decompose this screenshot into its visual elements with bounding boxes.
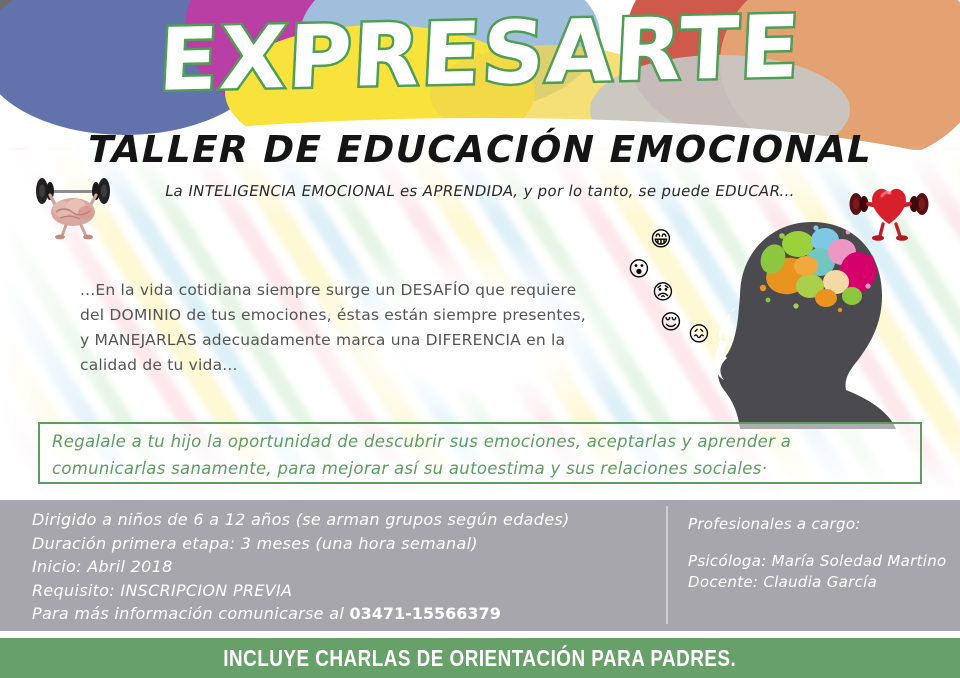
staff-teacher: Docente: Claudia García bbox=[688, 572, 948, 593]
bottom-banner-text: INCLUYE CHARLAS DE ORIENTACIÓN PARA PADR… bbox=[224, 645, 737, 672]
surprised-emoji: 😮 bbox=[628, 259, 650, 280]
grinning-emoji: 😁 bbox=[650, 229, 672, 250]
phone-number[interactable]: 03471-15566379 bbox=[349, 604, 500, 623]
poster-tagline: La INTELIGENCIA EMOCIONAL es APRENDIDA, … bbox=[0, 182, 960, 200]
intro-paragraph: ...En la vida cotidiana siempre surge un… bbox=[80, 278, 600, 378]
worried-emoji: 😟 bbox=[652, 282, 674, 303]
staff-block: Profesionales a cargo: Psicóloga: María … bbox=[688, 514, 948, 593]
detail-line-duration: Duración primera etapa: 3 meses (una hor… bbox=[32, 532, 632, 556]
poster-subtitle: TALLER DE EDUCACIÓN EMOCIONAL bbox=[0, 128, 960, 171]
panel-divider bbox=[666, 506, 668, 624]
confounded-emoji: 😖 bbox=[688, 324, 710, 345]
bottom-banner: INCLUYE CHARLAS DE ORIENTACIÓN PARA PADR… bbox=[0, 638, 960, 678]
contact-prefix: Para más información comunicarse al bbox=[32, 604, 349, 623]
poster-root: EXPRESARTE TALLER DE EDUCACIÓN EMOCIONAL… bbox=[0, 0, 960, 678]
detail-line-start: Inicio: Abril 2018 bbox=[32, 555, 632, 579]
relieved-emoji: 😌 bbox=[660, 312, 682, 333]
highlight-text: Regalale a tu hijo la oportunidad de des… bbox=[40, 424, 920, 482]
info-panel: Dirigido a niños de 6 a 12 años (se arma… bbox=[0, 500, 960, 631]
detail-line-audience: Dirigido a niños de 6 a 12 años (se arma… bbox=[32, 508, 632, 532]
detail-line-requisite: Requisito: INSCRIPCION PREVIA bbox=[32, 579, 632, 603]
staff-heading: Profesionales a cargo: bbox=[688, 514, 948, 535]
course-details: Dirigido a niños de 6 a 12 años (se arma… bbox=[32, 508, 632, 626]
brain-barbell-icon bbox=[24, 168, 124, 240]
staff-psychologist: Psicóloga: María Soledad Martino bbox=[688, 551, 948, 572]
highlight-box: Regalale a tu hijo la oportunidad de des… bbox=[38, 422, 922, 484]
staff-spacer bbox=[688, 535, 948, 551]
contact-line: Para más información comunicarse al 0347… bbox=[32, 602, 632, 626]
child-silhouette-illustration: 😁 😮 😟 😌 😖 bbox=[620, 214, 950, 429]
